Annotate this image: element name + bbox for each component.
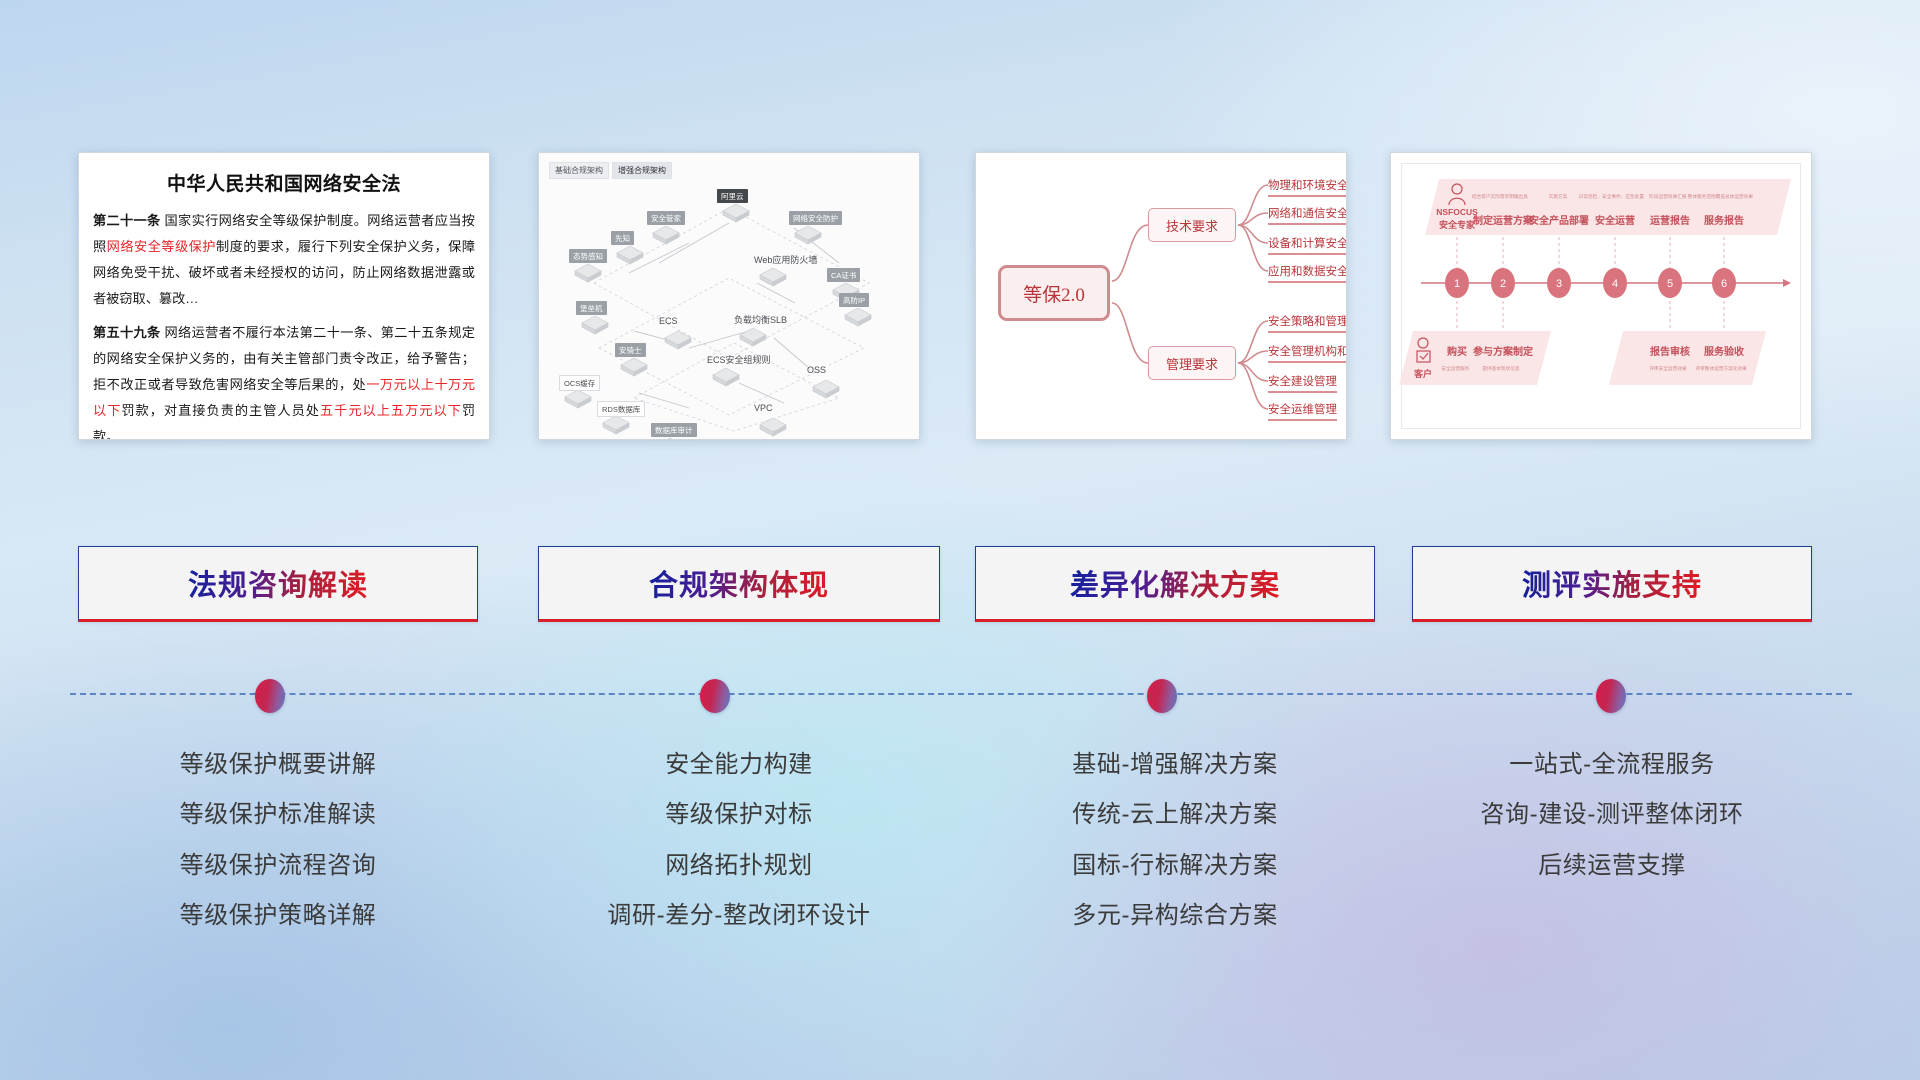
section-title-text-4: 测评实施支持	[1522, 562, 1702, 604]
step-bottom-title-4: 服务验收	[1704, 343, 1744, 358]
card-nsfocus-service-timeline[interactable]: 12 34 56 NSFOCUS安全专家客户结合客户实际需求明确出具制定运营方案…	[1390, 152, 1812, 440]
mindmap-leaf[interactable]: 网络和通信安全	[1268, 205, 1347, 225]
svg-text:4: 4	[1612, 278, 1618, 290]
section-title-box-1[interactable]: 法规咨询解读	[78, 546, 478, 622]
bullet-item: 等级保护标准解读	[78, 790, 478, 840]
bullet-item: 咨询-建设-测评整体闭环	[1412, 790, 1812, 840]
bullet-item: 等级保护策略详解	[78, 891, 478, 941]
mindmap-branch-technical[interactable]: 技术要求	[1148, 208, 1236, 242]
customer-band-right	[1609, 331, 1766, 385]
mindmap-root-node[interactable]: 等保2.0	[998, 265, 1110, 321]
customer-label: 客户	[1414, 367, 1432, 380]
law-article-59-highlight-2: 五千元以上五万元以下	[320, 403, 462, 418]
architecture-node-label: OSS	[807, 365, 826, 375]
nsfocus-brand-line2: 安全专家	[1439, 218, 1475, 231]
timeline-dot-3[interactable]	[1147, 679, 1177, 713]
nsfocus-timeline: 12 34 56 NSFOCUS安全专家客户结合客户实际需求明确出具制定运营方案…	[1391, 153, 1811, 439]
law-title: 中华人民共和国网络安全法	[79, 169, 489, 196]
mindmap-leaf[interactable]: 安全建设管理	[1268, 373, 1337, 393]
bullet-item: 等级保护概要讲解	[78, 740, 478, 790]
step-bottom-sub-4: 评审整体运营方案化效果	[1695, 365, 1746, 371]
bullet-item: 网络拓扑规划	[538, 841, 940, 891]
bullet-item: 一站式-全流程服务	[1412, 740, 1812, 790]
mindmap-leaf[interactable]: 安全策略和管理制度	[1268, 313, 1347, 333]
nsfocus-brand-line1: NSFOCUS	[1436, 207, 1478, 217]
law-article-21-highlight: 网络安全等级保护	[107, 239, 216, 254]
svg-text:1: 1	[1454, 278, 1460, 290]
architecture-node-label: RDS数据库	[597, 401, 645, 417]
step-top-sub-5: 整体服务范围覆盖总体运营效果	[1688, 193, 1753, 199]
step-top-sub-2: 实施方案	[1549, 193, 1568, 199]
bullet-item: 基础-增强解决方案	[975, 740, 1375, 790]
step-top-title-4: 运营报告	[1650, 212, 1690, 227]
section-title-box-4[interactable]: 测评实施支持	[1412, 546, 1812, 622]
bullet-list-3: 基础-增强解决方案传统-云上解决方案国标-行标解决方案多元-异构综合方案	[975, 740, 1375, 942]
step-bottom-title-3: 报告审核	[1650, 343, 1690, 358]
timeline-dashed-line	[70, 693, 1852, 695]
architecture-node-label: CA证书	[827, 268, 860, 282]
mindmap: 等保2.0 技术要求 管理要求 物理和环境安全网络和通信安全设备和计算安全应用和…	[976, 153, 1346, 439]
timeline-dot-2[interactable]	[700, 679, 730, 713]
law-article-21-label: 第二十一条	[93, 213, 161, 228]
step-top-sub-1: 结合客户实际需求明确出具	[1472, 193, 1528, 199]
law-article-59-label: 第五十九条	[93, 325, 161, 340]
law-article-59-part2: 罚款，对直接负责的主管人员处	[121, 403, 320, 418]
step-top-title-1: 制定运营方案	[1473, 212, 1533, 227]
bullet-item: 多元-异构综合方案	[975, 891, 1375, 941]
bullet-item: 等级保护对标	[538, 790, 940, 840]
step-bottom-sub-1: 安全运营服务	[1441, 365, 1469, 371]
architecture-node-label: 网络安全防护	[789, 211, 842, 225]
svg-text:6: 6	[1721, 278, 1727, 290]
bullet-item: 后续运营支撑	[1412, 841, 1812, 891]
mindmap-leaf[interactable]: 物理和环境安全	[1268, 177, 1347, 197]
card-cybersecurity-law[interactable]: 中华人民共和国网络安全法 第二十一条 国家实行网络安全等级保护制度。网络运营者应…	[78, 152, 490, 440]
step-bottom-title-1: 购买	[1447, 343, 1467, 358]
architecture-node-label: 先知	[611, 231, 634, 245]
timeline-dot-4[interactable]	[1596, 679, 1626, 713]
step-bottom-sub-2: 提供基本现状信息	[1482, 365, 1519, 371]
mindmap-leaf[interactable]: 安全运维管理	[1268, 401, 1337, 421]
section-title-text-1: 法规咨询解读	[188, 562, 368, 604]
section-title-box-2[interactable]: 合规架构体现	[538, 546, 940, 622]
bullet-item: 等级保护流程咨询	[78, 841, 478, 891]
bullet-list-2: 安全能力构建等级保护对标网络拓扑规划调研-差分-整改闭环设计	[538, 740, 940, 942]
architecture-node-label: 数据库审计	[651, 423, 697, 437]
bullet-item: 国标-行标解决方案	[975, 841, 1375, 891]
section-title-box-3[interactable]: 差异化解决方案	[975, 546, 1375, 622]
mindmap-leaf[interactable]: 安全管理机构和人员	[1268, 343, 1347, 363]
section-title-text-2: 合规架构体现	[649, 562, 829, 604]
preview-cards-row: 中华人民共和国网络安全法 第二十一条 国家实行网络安全等级保护制度。网络运营者应…	[0, 0, 1920, 460]
architecture-node-label: 安骑士	[615, 343, 646, 357]
architecture-node-label: 态势感知	[569, 249, 607, 263]
svg-text:3: 3	[1556, 278, 1562, 290]
law-body: 第二十一条 国家实行网络安全等级保护制度。网络运营者应当按照网络安全等级保护制度…	[79, 208, 489, 440]
step-top-sub-4: 阶段运营效果汇报	[1649, 193, 1686, 199]
bullet-item: 安全能力构建	[538, 740, 940, 790]
mindmap-leaf[interactable]: 应用和数据安全	[1268, 263, 1347, 283]
svg-text:5: 5	[1667, 278, 1673, 290]
mindmap-leaf[interactable]: 设备和计算安全	[1268, 235, 1347, 255]
architecture-diagram: 基础合规架构 增强合规架构	[539, 153, 919, 439]
card-mindmap-dengbao[interactable]: 等保2.0 技术要求 管理要求 物理和环境安全网络和通信安全设备和计算安全应用和…	[975, 152, 1347, 440]
architecture-node-label: 负载均衡SLB	[734, 313, 787, 326]
law-article-59: 第五十九条 网络运营者不履行本法第二十一条、第二十五条规定的网络安全保护义务的，…	[93, 320, 475, 440]
step-top-sub-3: 日常巡检、安全事件、应急处置	[1579, 193, 1644, 199]
architecture-node-label: VPC	[754, 403, 773, 413]
section-title-text-3: 差异化解决方案	[1070, 562, 1280, 604]
bullet-list-4: 一站式-全流程服务咨询-建设-测评整体闭环后续运营支撑	[1412, 740, 1812, 891]
architecture-node-label: 高防IP	[839, 293, 869, 307]
architecture-node-label: OCS缓存	[559, 375, 600, 391]
architecture-node-label: ECS	[659, 316, 678, 326]
architecture-node-label: 安全管家	[647, 211, 685, 225]
step-top-title-5: 服务报告	[1704, 212, 1744, 227]
bullet-list-1: 等级保护概要讲解等级保护标准解读等级保护流程咨询等级保护策略详解	[78, 740, 478, 942]
law-article-21: 第二十一条 国家实行网络安全等级保护制度。网络运营者应当按照网络安全等级保护制度…	[93, 208, 475, 313]
architecture-node-label: 堡垒机	[576, 301, 607, 315]
architecture-node-label: 阿里云	[717, 189, 748, 203]
timeline-dot-1[interactable]	[255, 679, 285, 713]
bullet-item: 调研-差分-整改闭环设计	[538, 891, 940, 941]
architecture-node-label: Web应用防火墙	[754, 253, 817, 266]
step-bottom-sub-3: 评审安全运营效果	[1649, 365, 1686, 371]
architecture-node-label: ECS安全组规则	[707, 353, 771, 366]
svg-text:2: 2	[1500, 278, 1506, 290]
card-compliance-architecture[interactable]: 基础合规架构 增强合规架构	[538, 152, 920, 440]
step-top-title-3: 安全运营	[1595, 212, 1635, 227]
bullet-item: 传统-云上解决方案	[975, 790, 1375, 840]
step-bottom-title-2: 参与方案制定	[1473, 343, 1533, 358]
step-top-title-2: 安全产品部署	[1529, 212, 1589, 227]
mindmap-branch-management[interactable]: 管理要求	[1148, 346, 1236, 380]
